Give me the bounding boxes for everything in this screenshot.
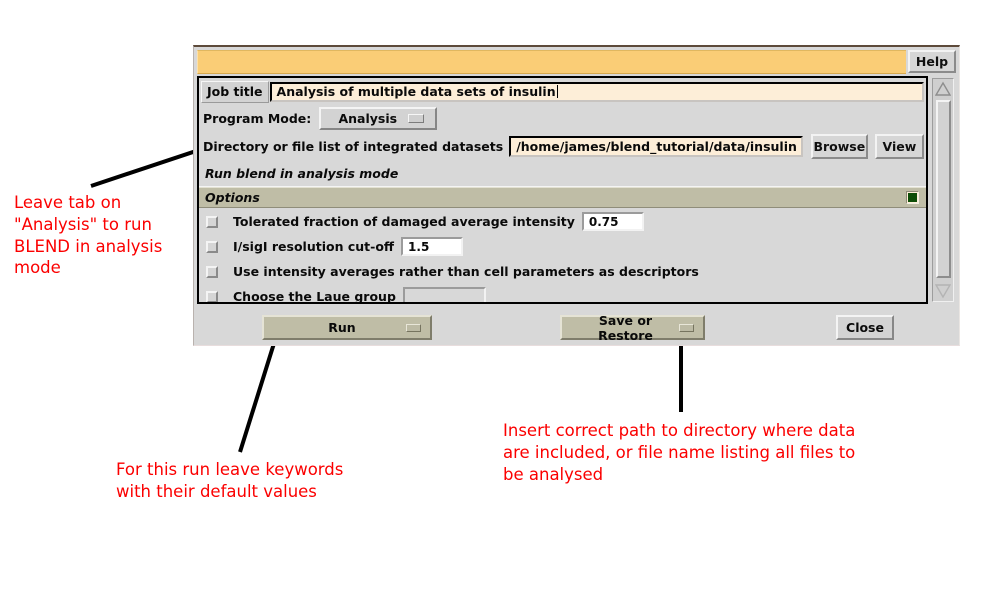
checkbox-isigi-cutoff[interactable] (206, 241, 218, 253)
program-mode-row: Program Mode: Analysis (199, 104, 926, 132)
blend-gui-window: Help Job title Analysis of multiple data… (193, 45, 960, 346)
vertical-scrollbar[interactable] (932, 78, 954, 302)
program-mode-selected-value: Analysis (321, 111, 408, 126)
action-button-bar: Run Save or Restore Close (197, 308, 958, 348)
option-row-intensity-averages: Use intensity averages rather than cell … (199, 260, 926, 283)
annotation-insert-path: Insert correct path to directory where d… (503, 420, 913, 485)
scrollbar-thumb[interactable] (936, 100, 951, 278)
mode-description-text: Run blend in analysis mode (199, 162, 926, 187)
input-laue-group[interactable] (403, 287, 486, 304)
directory-row: Directory or file list of integrated dat… (199, 132, 926, 162)
close-button[interactable]: Close (836, 315, 894, 340)
option-row-isigi-cutoff: I/sigI resolution cut-off 1.5 (199, 235, 926, 258)
window-topbar: Help (194, 47, 959, 74)
job-title-value: Analysis of multiple data sets of insuli… (277, 84, 556, 99)
run-button-label: Run (264, 320, 406, 335)
run-menu-indicator-icon (406, 324, 421, 332)
scroll-down-triangle-down-icon[interactable] (935, 283, 951, 299)
options-section-header: Options (199, 187, 926, 208)
job-title-row: Job title Analysis of multiple data sets… (199, 78, 926, 104)
checkbox-laue-group[interactable] (206, 291, 218, 303)
annotation-analysis-mode: Leave tab on "Analysis" to run BLEND in … (14, 192, 204, 279)
browse-button[interactable]: Browse (811, 134, 868, 159)
help-button[interactable]: Help (908, 50, 956, 73)
option-label-isigi-cutoff: I/sigI resolution cut-off (233, 239, 394, 254)
form-area: Job title Analysis of multiple data sets… (197, 76, 928, 304)
scroll-up-triangle-up-icon[interactable] (935, 81, 951, 97)
save-or-restore-button[interactable]: Save or Restore (560, 315, 705, 340)
options-header-label: Options (205, 190, 906, 205)
save-or-restore-label: Save or Restore (562, 313, 679, 343)
checkbox-tolerated-fraction[interactable] (206, 216, 218, 228)
directory-label: Directory or file list of integrated dat… (203, 139, 503, 154)
save-restore-menu-indicator-icon (679, 324, 694, 332)
program-mode-dropdown[interactable]: Analysis (319, 107, 437, 130)
program-mode-label: Program Mode: (203, 111, 311, 126)
green-square-icon (908, 193, 917, 202)
input-tolerated-fraction[interactable]: 0.75 (582, 212, 644, 231)
view-button[interactable]: View (875, 134, 924, 159)
window-body: Job title Analysis of multiple data sets… (197, 76, 958, 348)
option-row-tolerated-fraction: Tolerated fraction of damaged average in… (199, 210, 926, 233)
annotation-default-keywords: For this run leave keywords with their d… (116, 459, 456, 503)
input-isigi-cutoff[interactable]: 1.5 (401, 237, 463, 256)
header-orange-strip (197, 50, 906, 74)
options-expand-toggle[interactable] (906, 191, 919, 204)
option-menu-indicator-icon (408, 114, 424, 123)
option-label-laue-group: Choose the Laue group (233, 289, 396, 304)
directory-input[interactable]: /home/james/blend_tutorial/data/insulin (509, 136, 803, 157)
job-title-label: Job title (201, 81, 269, 103)
option-label-intensity-averages: Use intensity averages rather than cell … (233, 264, 699, 279)
text-caret (557, 85, 558, 98)
option-label-tolerated-fraction: Tolerated fraction of damaged average in… (233, 214, 575, 229)
job-title-input[interactable]: Analysis of multiple data sets of insuli… (270, 82, 924, 102)
checkbox-intensity-averages[interactable] (206, 266, 218, 278)
option-row-laue-group: Choose the Laue group (199, 285, 926, 304)
run-button[interactable]: Run (262, 315, 432, 340)
